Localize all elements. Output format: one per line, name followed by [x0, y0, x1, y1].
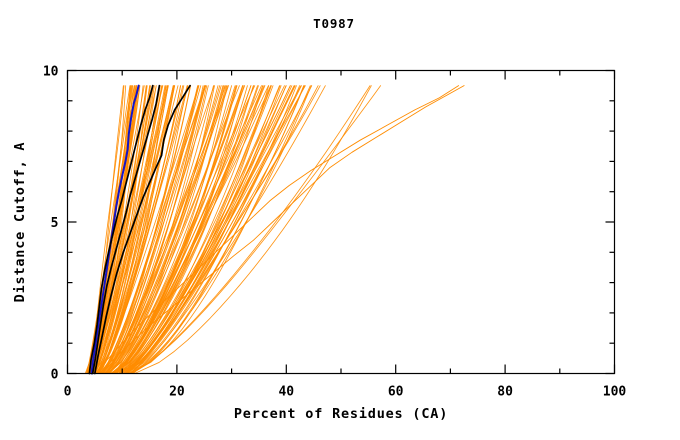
- y-tick-label: 0: [51, 368, 59, 383]
- y-tick-label: 10: [43, 65, 59, 80]
- chart-root: T0987 0204060801000510 Percent of Residu…: [0, 0, 680, 440]
- x-axis-title: Percent of Residues (CA): [234, 406, 448, 422]
- y-tick-label: 5: [51, 216, 59, 231]
- x-tick-label: 0: [64, 385, 72, 400]
- x-tick-label: 40: [278, 385, 294, 400]
- x-tick-label: 60: [388, 385, 404, 400]
- x-tick-label: 100: [603, 385, 627, 400]
- y-axis-title: Distance Cutoff, A: [12, 142, 28, 303]
- x-tick-label: 20: [169, 385, 185, 400]
- page-title: T0987: [313, 16, 355, 31]
- x-tick-label: 80: [497, 385, 513, 400]
- distance-cutoff-plot: T0987 0204060801000510 Percent of Residu…: [0, 0, 680, 440]
